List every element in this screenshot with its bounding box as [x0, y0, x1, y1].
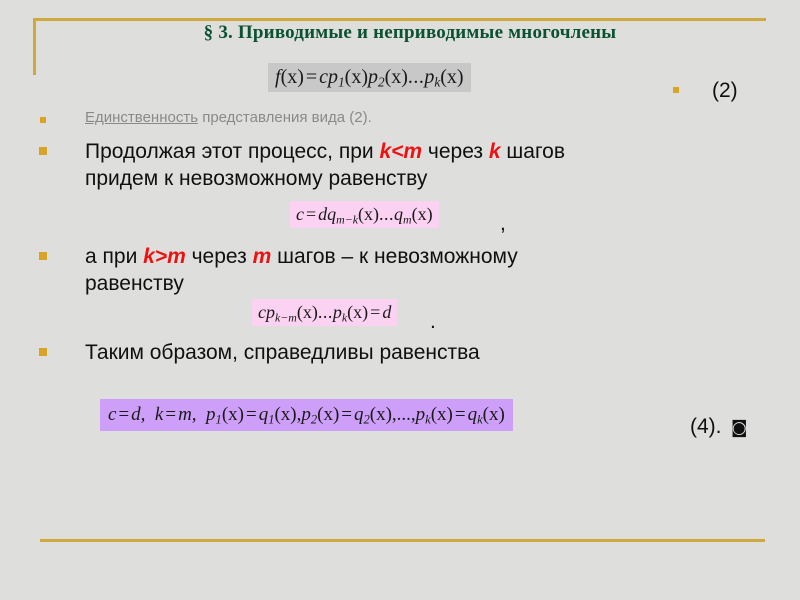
- formula-1-eq: =: [304, 66, 319, 88]
- formula-1-sub-2: 2: [378, 75, 385, 90]
- formula-2-rhs: dq: [318, 204, 336, 224]
- bullet-marker-4: [39, 348, 47, 356]
- formula-3-rhs-3: d: [382, 302, 391, 322]
- formula-1-lhs-arg: (x): [281, 66, 304, 88]
- formula-4-arg-6: (x): [483, 404, 505, 425]
- formula-4-t2: d,: [131, 404, 145, 425]
- bullet-item-k-greater-m: а при k>m через m шагов – к невозможному…: [85, 243, 745, 297]
- formula-3-arg-1: (x): [297, 302, 318, 322]
- formula-cp-equals-d: cpk−m(x)...pk(x)=d: [252, 303, 397, 324]
- bullet-3-part-1: а при: [85, 245, 143, 268]
- equation-number-4: (4).: [690, 415, 722, 439]
- formula-f-of-x-highlight: f(x)=cp1(x)p2(x)...pk(x): [268, 63, 471, 92]
- formula-4-eq4: =: [339, 404, 354, 425]
- formula-3-arg-2: (x): [347, 302, 368, 322]
- formula-4-eq5: =: [453, 404, 468, 425]
- bullet-2-part-3: шагов: [501, 140, 565, 163]
- formula-4-arg-3: (x): [317, 404, 339, 425]
- formula-1-sub-1: 1: [338, 75, 345, 90]
- bullet-2-part-2: через: [422, 140, 489, 163]
- bullet-3-red-1: k>m: [143, 245, 186, 268]
- formula-2-dots: ...: [379, 204, 394, 224]
- formula-1-arg-3: (x): [440, 66, 463, 88]
- bullet-1-underlined: Единственность: [85, 109, 198, 126]
- formula-4-t6: q: [259, 404, 269, 425]
- formula-2-arg-1: (x): [358, 204, 379, 224]
- frame-top-rule: [33, 18, 766, 21]
- formula-2-trailing-comma: ,: [500, 212, 506, 236]
- bullet-2-red-2: k: [489, 140, 501, 163]
- formula-4-arg-4: (x),...,: [370, 404, 416, 425]
- formula-3-trailing-period: .: [430, 310, 436, 334]
- formula-final-equalities: c=d, k=m, p1(x)=q1(x),p2(x)=q2(x),...,pk…: [100, 405, 513, 427]
- formula-1-rhs: cp: [319, 66, 338, 88]
- formula-final-equalities-highlight: c=d, k=m, p1(x)=q1(x),p2(x)=q2(x),...,pk…: [100, 399, 513, 431]
- formula-4-t5: p: [206, 404, 216, 425]
- frame-left-rule: [33, 18, 36, 75]
- formula-4-eq2: =: [163, 404, 178, 425]
- bullet-1-rest: представления вида (2).: [198, 109, 372, 126]
- formula-4-t8: q: [354, 404, 364, 425]
- bullet-2-part-1: Продолжая этот процесс, при: [85, 140, 379, 163]
- formula-4-t7: p: [301, 404, 311, 425]
- formula-2-lhs: c: [296, 204, 304, 224]
- formula-2-arg-2: (x): [412, 204, 433, 224]
- bullet-item-continue-process: Продолжая этот процесс, при k<m через k …: [85, 138, 745, 192]
- bullet-item-uniqueness: Единственность представления вида (2).: [85, 108, 725, 128]
- end-of-proof-icon: ◙: [731, 420, 748, 437]
- bullet-2-red-1: k<m: [379, 140, 422, 163]
- formula-2-rhs-2: q: [394, 204, 403, 224]
- formula-3-lhs: cp: [258, 302, 275, 322]
- formula-cp-equals-d-highlight: cpk−m(x)...pk(x)=d: [252, 299, 397, 326]
- bullet-marker-3: [39, 252, 47, 260]
- formula-1-dots: ...: [408, 66, 425, 88]
- bullet-3-part-2: через: [186, 245, 253, 268]
- formula-2-eq: =: [304, 204, 318, 224]
- bullet-3-part-3: шагов – к невозможному: [271, 245, 517, 268]
- bullet-2-line-2: придем к невозможному равенству: [85, 167, 427, 190]
- formula-2-sub-2: m: [403, 212, 412, 226]
- frame-bottom-rule: [40, 539, 765, 542]
- formula-c-equals-dq-highlight: c=dqm−k(x)...qm(x): [290, 201, 439, 228]
- bullet-item-thus-equalities: Таким образом, справедливы равенства: [85, 339, 745, 366]
- formula-3-dots: ...: [318, 302, 333, 322]
- formula-4-arg-1: (x): [222, 404, 244, 425]
- page-title: § 3. Приводимые и неприводимые многочлен…: [60, 22, 760, 44]
- formula-4-eq3: =: [244, 404, 259, 425]
- formula-4-t9: p: [416, 404, 426, 425]
- bullet-marker-2: [39, 147, 47, 155]
- formula-1-arg-2: (x): [385, 66, 408, 88]
- slide-canvas: § 3. Приводимые и неприводимые многочлен…: [0, 0, 800, 600]
- formula-1-rhs-2: p: [368, 66, 378, 88]
- bullet-marker-eq2: [673, 87, 679, 93]
- formula-1-rhs-3: p: [424, 66, 434, 88]
- formula-3-rhs-2: p: [333, 302, 342, 322]
- equation-number-2: (2): [712, 79, 738, 103]
- formula-4-t10: q: [468, 404, 478, 425]
- formula-f-of-x: f(x)=cp1(x)p2(x)...pk(x): [268, 66, 471, 90]
- formula-1-arg-1: (x): [345, 66, 368, 88]
- formula-3-eq: =: [368, 302, 382, 322]
- formula-4-arg-5: (x): [431, 404, 453, 425]
- bullet-3-line-2: равенству: [85, 272, 184, 295]
- formula-4-arg-2: (x),: [274, 404, 301, 425]
- formula-4-eq1: =: [116, 404, 131, 425]
- formula-3-sub-1: k−m: [275, 310, 297, 324]
- bullet-marker-1: [40, 117, 46, 123]
- bullet-3-red-2: m: [253, 245, 272, 268]
- formula-2-sub-1: m−k: [336, 212, 358, 226]
- formula-4-t4: m,: [178, 404, 196, 425]
- formula-c-equals-dq: c=dqm−k(x)...qm(x): [290, 205, 439, 226]
